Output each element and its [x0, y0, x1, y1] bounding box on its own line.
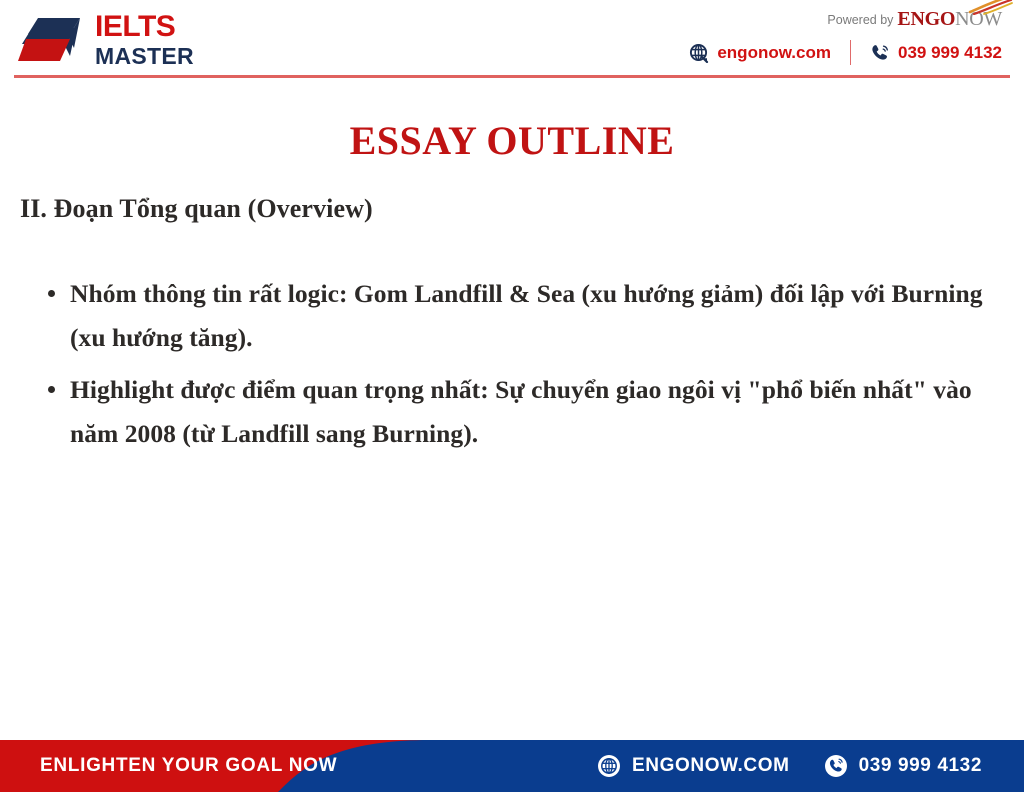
footer-website[interactable]: ENGONOW.COM	[597, 754, 790, 778]
globe-icon	[597, 754, 621, 778]
bullet-list: Nhóm thông tin rất logic: Gom Landfill &…	[44, 272, 1009, 455]
swoosh-icon	[968, 0, 1014, 15]
phone-icon	[824, 754, 848, 778]
header-contact-phone[interactable]: 039 999 4132	[870, 43, 1002, 63]
phone-icon	[870, 43, 890, 63]
logo-line-master: MASTER	[95, 45, 194, 68]
bullet-list-container: Nhóm thông tin rất logic: Gom Landfill &…	[44, 272, 1009, 463]
footer-website-label: ENGONOW.COM	[632, 755, 790, 777]
globe-icon	[689, 43, 709, 63]
logo-wordmark: IELTS MASTER	[95, 12, 194, 68]
list-item: Nhóm thông tin rất logic: Gom Landfill &…	[44, 272, 1009, 360]
list-item: Highlight được điểm quan trọng nhất: Sự …	[44, 368, 1009, 456]
engonow-wordmark: ENGONOW	[897, 8, 1002, 31]
footer-phone-label: 039 999 4132	[859, 755, 982, 777]
footer-phone[interactable]: 039 999 4132	[824, 754, 982, 778]
stacked-books-icon	[18, 14, 86, 66]
header-contact-divider	[850, 40, 851, 65]
logo-line-ielts: IELTS	[95, 12, 194, 42]
slide-footer: ENLIGHTEN YOUR GOAL NOW ENGONOW.COM	[0, 740, 1024, 792]
header-website-label: engonow.com	[717, 43, 831, 63]
footer-contact-group: ENGONOW.COM 039 999 4132	[597, 740, 982, 792]
header-contact-website[interactable]: engonow.com	[689, 43, 831, 63]
powered-by-engonow: Powered by ENGONOW	[827, 8, 1002, 31]
powered-by-label: Powered by	[827, 13, 893, 27]
page-title: ESSAY OUTLINE	[0, 117, 1024, 164]
slide-header: IELTS MASTER Powered by ENGONOW	[0, 0, 1024, 80]
header-phone-label: 039 999 4132	[898, 43, 1002, 63]
footer-tagline: ENLIGHTEN YOUR GOAL NOW	[40, 740, 337, 792]
header-contact-row: engonow.com 039 999 4132	[689, 40, 1002, 65]
section-heading: II. Đoạn Tổng quan (Overview)	[20, 194, 373, 224]
engonow-engo: ENGO	[897, 8, 955, 30]
slide-canvas: IELTS MASTER Powered by ENGONOW	[0, 0, 1024, 792]
brand-logo: IELTS MASTER	[18, 12, 194, 68]
header-divider-rule	[14, 75, 1010, 78]
